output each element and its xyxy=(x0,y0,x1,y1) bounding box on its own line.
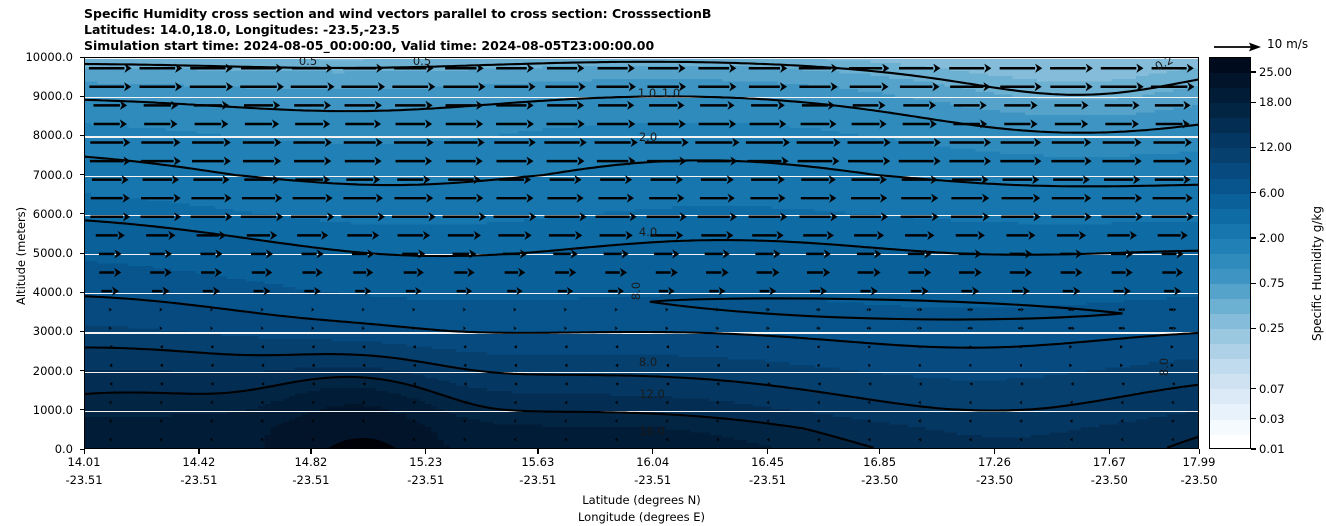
colorbar-band xyxy=(1210,269,1250,284)
colorbar-tick-mark xyxy=(1251,237,1256,238)
contour-label: 2.0 xyxy=(639,130,657,144)
y-axis-tick-label: 8000.0 xyxy=(0,128,73,142)
x-axis-tick-mark xyxy=(767,449,768,454)
x-axis-tick-mark xyxy=(1199,449,1200,454)
colorbar-band xyxy=(1210,163,1250,178)
colorbar-band xyxy=(1210,133,1250,148)
x-axis-tick-mark xyxy=(198,449,199,454)
contour-label: 1.0 xyxy=(662,86,680,100)
colorbar-band xyxy=(1210,359,1250,374)
colorbar-band xyxy=(1210,118,1250,133)
x-axis-tick-longitude: -23.51 xyxy=(65,473,102,487)
colorbar-tick-label: 0.25 xyxy=(1259,321,1285,335)
colorbar-tick-label: 0.03 xyxy=(1259,412,1285,426)
colorbar-band xyxy=(1210,344,1250,359)
x-axis-tick-latitude: 15.63 xyxy=(521,455,554,469)
x-axis-tick-mark xyxy=(537,449,538,454)
y-axis-tick-label: 2000.0 xyxy=(0,364,73,378)
colorbar-tick-mark xyxy=(1251,192,1256,193)
colorbar-tick-label: 2.00 xyxy=(1259,231,1285,245)
y-axis-tick-mark xyxy=(80,135,85,136)
colorbar-band xyxy=(1210,58,1250,73)
colorbar-tick-label: 12.00 xyxy=(1259,140,1292,154)
colorbar-band xyxy=(1210,404,1250,419)
y-axis-tick-label: 9000.0 xyxy=(0,89,73,103)
colorbar-band xyxy=(1210,209,1250,224)
x-axis-label-latitude: Latitude (degrees N) xyxy=(582,493,701,507)
y-axis-tick-mark xyxy=(80,253,85,254)
wind-arrow-icon xyxy=(1213,40,1263,54)
colorbar-band xyxy=(1210,314,1250,329)
colorbar-band xyxy=(1210,73,1250,88)
title-line-2: Latitudes: 14.0,18.0, Longitudes: -23.5,… xyxy=(84,22,1184,38)
colorbar-band xyxy=(1210,420,1250,435)
title-line-1: Specific Humidity cross section and wind… xyxy=(84,6,1184,22)
contour-label: 0.5 xyxy=(413,58,431,68)
x-axis-tick-latitude: 14.42 xyxy=(182,455,215,469)
x-axis-tick-mark xyxy=(84,449,85,454)
x-axis-tick-latitude: 14.01 xyxy=(68,455,101,469)
colorbar-band xyxy=(1210,374,1250,389)
contour-label: 1.0 xyxy=(638,86,656,100)
x-axis-tick-label: 17.67-23.50 xyxy=(1091,454,1128,489)
x-axis-tick-mark xyxy=(994,449,995,454)
contour-labels: 0.50.50.21.01.02.04.08.08.012.016.08.0 xyxy=(85,58,1198,448)
x-axis-tick-latitude: 17.67 xyxy=(1093,455,1126,469)
y-axis-tick-mark xyxy=(80,57,85,58)
x-axis-tick-label: 17.26-23.50 xyxy=(976,454,1013,489)
colorbar-tick-mark xyxy=(1251,328,1256,329)
x-axis-tick-longitude: -23.50 xyxy=(976,473,1013,487)
colorbar-band xyxy=(1210,194,1250,209)
y-axis-tick-mark xyxy=(80,409,85,410)
colorbar-band xyxy=(1210,224,1250,239)
x-axis-tick-longitude: -23.51 xyxy=(749,473,786,487)
y-axis-tick-mark xyxy=(80,331,85,332)
x-axis-tick-label: 14.82-23.51 xyxy=(292,454,329,489)
x-axis-tick-label: 16.04-23.51 xyxy=(634,454,671,489)
y-axis-tick-label: 1000.0 xyxy=(0,403,73,417)
x-axis-tick-latitude: 16.45 xyxy=(751,455,784,469)
colorbar-band xyxy=(1210,103,1250,118)
x-axis-tick-longitude: -23.51 xyxy=(519,473,556,487)
y-axis-tick-mark xyxy=(80,174,85,175)
y-axis-label: Altitude (meters) xyxy=(14,207,28,305)
colorbar-band xyxy=(1210,179,1250,194)
chart-title: Specific Humidity cross section and wind… xyxy=(84,6,1184,55)
colorbar-tick-label: 0.01 xyxy=(1259,442,1285,456)
contour-label: 8.0 xyxy=(1157,358,1171,376)
x-axis-tick-label: 15.23-23.51 xyxy=(407,454,444,489)
colorbar-band xyxy=(1210,88,1250,103)
colorbar-tick-mark xyxy=(1251,147,1256,148)
title-line-3: Simulation start time: 2024-08-05_00:00:… xyxy=(84,38,1184,54)
x-axis-tick-label: 15.63-23.51 xyxy=(519,454,556,489)
colorbar xyxy=(1209,57,1251,449)
contour-label: 8.0 xyxy=(639,355,657,369)
colorbar-tick-mark xyxy=(1251,388,1256,389)
x-axis-tick-latitude: 15.23 xyxy=(409,455,442,469)
y-axis-tick-mark xyxy=(80,292,85,293)
y-axis-tick-label: 5000.0 xyxy=(0,246,73,260)
x-axis-tick-longitude: -23.51 xyxy=(180,473,217,487)
x-axis-tick-longitude: -23.51 xyxy=(292,473,329,487)
quiver-key-label: 10 m/s xyxy=(1267,37,1308,51)
colorbar-tick-label: 0.07 xyxy=(1259,382,1285,396)
colorbar-band xyxy=(1210,329,1250,344)
x-axis-tick-latitude: 17.99 xyxy=(1183,455,1216,469)
cross-section-plot: 0.50.50.21.01.02.04.08.08.012.016.08.0 xyxy=(84,57,1199,449)
x-axis-tick-longitude: -23.51 xyxy=(407,473,444,487)
y-axis-tick-mark xyxy=(80,213,85,214)
y-axis-tick-label: 3000.0 xyxy=(0,324,73,338)
contour-label: 4.0 xyxy=(639,225,657,239)
colorbar-tick-label: 18.00 xyxy=(1259,95,1292,109)
contour-label: 0.5 xyxy=(299,58,317,68)
x-axis-tick-label: 14.01-23.51 xyxy=(65,454,102,489)
colorbar-label: Specific Humidity g/kg xyxy=(1310,206,1324,341)
contour-label: 0.2 xyxy=(1153,58,1176,73)
contour-label: 16.0 xyxy=(639,424,665,438)
x-axis-tick-label: 16.45-23.51 xyxy=(749,454,786,489)
y-axis-tick-label: 10000.0 xyxy=(0,50,73,64)
x-axis-tick-mark xyxy=(652,449,653,454)
colorbar-band xyxy=(1210,148,1250,163)
x-axis-tick-label: 14.42-23.51 xyxy=(180,454,217,489)
x-axis-tick-longitude: -23.50 xyxy=(1091,473,1128,487)
x-axis-tick-latitude: 14.82 xyxy=(294,455,327,469)
colorbar-tick-mark xyxy=(1251,71,1256,72)
y-axis-tick-label: 7000.0 xyxy=(0,168,73,182)
y-axis-tick-label: 4000.0 xyxy=(0,285,73,299)
colorbar-tick-label: 0.75 xyxy=(1259,276,1285,290)
colorbar-band xyxy=(1210,239,1250,254)
x-axis-tick-mark xyxy=(310,449,311,454)
colorbar-band xyxy=(1210,299,1250,314)
y-axis-tick-mark xyxy=(80,370,85,371)
colorbar-band xyxy=(1210,389,1250,404)
contour-label: 8.0 xyxy=(629,282,643,300)
x-axis-tick-longitude: -23.50 xyxy=(1180,473,1217,487)
x-axis-tick-mark xyxy=(879,449,880,454)
y-axis-tick-label: 6000.0 xyxy=(0,207,73,221)
colorbar-tick-label: 6.00 xyxy=(1259,186,1285,200)
x-axis-tick-mark xyxy=(425,449,426,454)
colorbar-band xyxy=(1210,254,1250,269)
x-axis-tick-longitude: -23.51 xyxy=(634,473,671,487)
colorbar-tick-mark xyxy=(1251,418,1256,419)
colorbar-tick-mark xyxy=(1251,448,1256,449)
x-axis-tick-label: 17.99-23.50 xyxy=(1180,454,1217,489)
colorbar-tick-mark xyxy=(1251,102,1256,103)
colorbar-tick-label: 25.00 xyxy=(1259,65,1292,79)
contour-label: 12.0 xyxy=(639,387,665,401)
quiver-key: 10 m/s xyxy=(1213,37,1323,57)
colorbar-tick-mark xyxy=(1251,283,1256,284)
x-axis-tick-latitude: 16.04 xyxy=(636,455,669,469)
x-axis-tick-longitude: -23.50 xyxy=(861,473,898,487)
x-axis-tick-latitude: 16.85 xyxy=(863,455,896,469)
x-axis-tick-latitude: 17.26 xyxy=(978,455,1011,469)
x-axis-tick-label: 16.85-23.50 xyxy=(861,454,898,489)
x-axis-tick-mark xyxy=(1109,449,1110,454)
x-axis-label-longitude: Longitude (degrees E) xyxy=(578,510,705,524)
colorbar-band xyxy=(1210,435,1250,449)
y-axis-tick-mark xyxy=(80,96,85,97)
y-axis-tick-label: 0.0 xyxy=(0,442,73,456)
colorbar-band xyxy=(1210,284,1250,299)
